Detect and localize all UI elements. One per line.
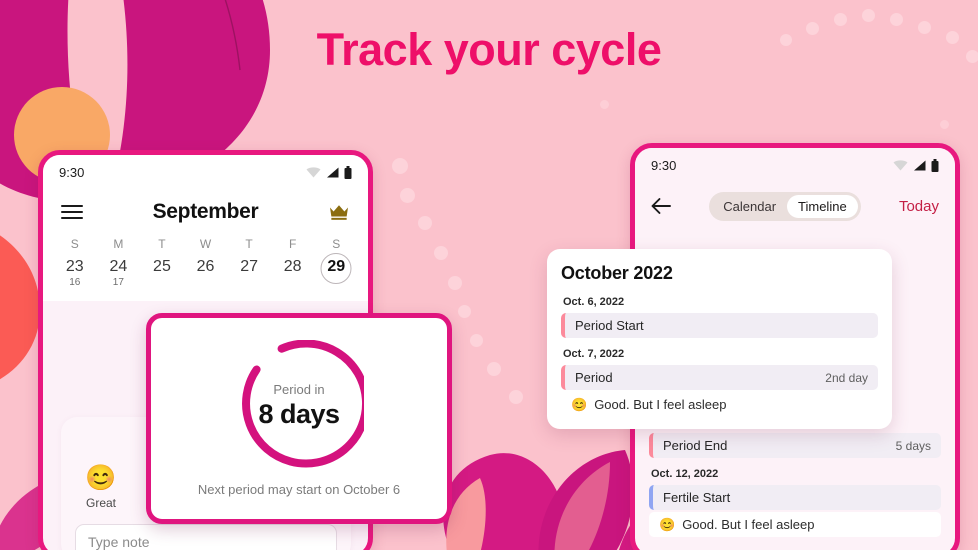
status-icons — [893, 159, 939, 172]
weekday-label: S — [314, 237, 358, 251]
smiling-face-icon: 😊 — [659, 517, 675, 533]
weekday-label: T — [227, 237, 271, 251]
calendar-day-cell[interactable]: 23 16 — [53, 257, 97, 289]
countdown-footer: Next period may start on October 6 — [151, 482, 447, 497]
promo-screenshot: Track your cycle 9:30 September — [0, 0, 978, 550]
calendar-day-number: 24 — [97, 257, 141, 277]
bg-dot — [392, 158, 408, 174]
countdown-value: 8 days — [258, 398, 339, 430]
battery-icon — [931, 159, 939, 172]
page-title-month: September — [83, 200, 328, 224]
timeline-note-row[interactable]: 😊 Good. But I feel asleep — [649, 512, 941, 537]
calendar-day-number: 23 — [53, 257, 97, 277]
smiling-face-icon: 😊 — [571, 397, 587, 413]
calendar-day-number: 27 — [227, 257, 271, 277]
today-button[interactable]: Today — [899, 198, 939, 215]
battery-icon — [344, 166, 352, 179]
calendar-day-sub: 17 — [97, 277, 141, 289]
calendar-day-sub: 16 — [53, 277, 97, 289]
timeline-event-label: Period Start — [575, 318, 644, 333]
timeline-event-label: Period End — [663, 438, 727, 453]
status-icons — [306, 166, 352, 179]
calendar-day-cell[interactable]: 28 — [271, 257, 315, 289]
timeline-group: Oct. 12, 2022 Fertile Start 😊 Good. But … — [649, 468, 941, 537]
bg-dot — [448, 276, 462, 290]
weekday-header-row: S M T W T F S — [43, 235, 368, 251]
view-mode-segmented-control: Calendar Timeline — [709, 192, 860, 221]
timeline-date-label: Oct. 12, 2022 — [651, 468, 941, 480]
tab-calendar[interactable]: Calendar — [712, 195, 787, 218]
bg-dot — [400, 188, 415, 203]
weekday-label: M — [97, 237, 141, 251]
mood-option-great[interactable]: 😊 Great — [75, 463, 127, 510]
status-time: 9:30 — [651, 158, 676, 173]
weekday-label: F — [271, 237, 315, 251]
calendar-day-cell[interactable]: 26 — [184, 257, 228, 289]
timeline-event-row[interactable]: Period 2nd day — [561, 365, 878, 390]
timeline-event-row[interactable]: Fertile Start — [649, 485, 941, 510]
bg-dot — [470, 334, 483, 347]
signal-icon — [326, 167, 339, 178]
calendar-day-cell-today[interactable]: 29 — [314, 257, 358, 289]
weekday-label: T — [140, 237, 184, 251]
bg-dot — [418, 216, 432, 230]
date-row: 23 16 24 17 25 26 27 28 — [43, 251, 368, 301]
calendar-day-number: 28 — [271, 257, 315, 277]
tab-timeline[interactable]: Timeline — [787, 195, 858, 218]
status-bar: 9:30 — [635, 148, 955, 182]
mood-label: Great — [75, 496, 127, 510]
timeline-event-meta: 5 days — [896, 439, 931, 453]
timeline-note-text: Good. But I feel asleep — [682, 517, 814, 532]
calendar-day-number: 25 — [140, 257, 184, 277]
timeline-event-row[interactable]: Period End 5 days — [649, 433, 941, 458]
timeline-event-row[interactable]: Period Start — [561, 313, 878, 338]
timeline-detail-card: October 2022 Oct. 6, 2022 Period Start O… — [547, 249, 892, 429]
note-input[interactable]: Type note — [75, 524, 337, 550]
back-arrow-icon[interactable] — [651, 197, 671, 215]
bg-dot — [600, 100, 609, 109]
today-circle-indicator — [321, 253, 352, 284]
timeline-event-label: Fertile Start — [663, 490, 730, 505]
bg-dot — [458, 305, 471, 318]
timeline-note-text: Good. But I feel asleep — [594, 397, 726, 412]
bg-dot — [487, 362, 501, 376]
calendar-header: September — [43, 189, 368, 235]
cycle-progress-ring: Period in 8 days — [234, 340, 364, 470]
timeline-note-row[interactable]: 😊 Good. But I feel asleep — [561, 392, 878, 417]
countdown-sub-label: Period in — [273, 381, 324, 398]
calendar-day-cell[interactable]: 24 17 — [97, 257, 141, 289]
status-bar: 9:30 — [43, 155, 368, 189]
period-countdown-card: Period in 8 days Next period may start o… — [146, 313, 452, 524]
bg-dot — [509, 390, 523, 404]
weekday-label: S — [53, 237, 97, 251]
crown-icon[interactable] — [328, 203, 350, 221]
calendar-day-cell[interactable]: 25 — [140, 257, 184, 289]
timeline-date-label: Oct. 6, 2022 — [563, 296, 878, 308]
page-title: Track your cycle — [0, 24, 978, 76]
smiling-face-icon: 😊 — [75, 463, 127, 493]
bg-dot — [862, 9, 875, 22]
signal-icon — [913, 160, 926, 171]
timeline-group: Oct. 7, 2022 Period 2nd day 😊 Good. But … — [561, 348, 878, 417]
bg-dot — [434, 246, 448, 260]
calendar-day-number: 26 — [184, 257, 228, 277]
timeline-header: Calendar Timeline Today — [635, 182, 955, 230]
countdown-text: Period in 8 days — [234, 340, 364, 470]
weekday-label: W — [184, 237, 228, 251]
bg-dot — [940, 120, 949, 129]
timeline-event-meta: 2nd day — [825, 371, 868, 385]
timeline-date-label: Oct. 7, 2022 — [563, 348, 878, 360]
timeline-group: Oct. 6, 2022 Period Start — [561, 296, 878, 338]
timeline-card-title: October 2022 — [561, 263, 878, 284]
wifi-icon — [306, 167, 321, 178]
status-time: 9:30 — [59, 165, 84, 180]
hamburger-icon[interactable] — [61, 205, 83, 219]
timeline-event-label: Period — [575, 370, 613, 385]
calendar-day-cell[interactable]: 27 — [227, 257, 271, 289]
wifi-icon — [893, 160, 908, 171]
